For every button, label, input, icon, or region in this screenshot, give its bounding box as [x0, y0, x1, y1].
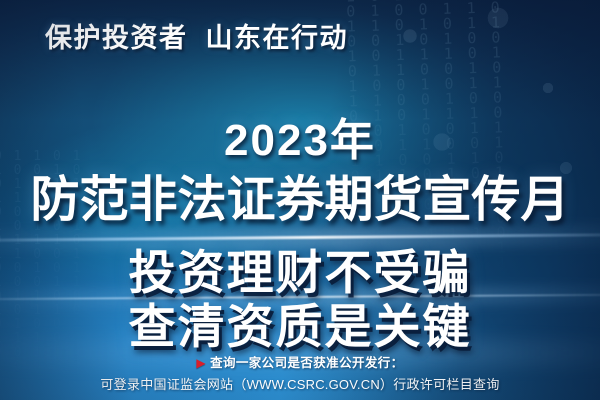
csrc-website-url[interactable]: WWW.CSRC.GOV.CN [247, 377, 380, 392]
footer-block: ▶查询一家公司是否获准公开发行： 可登录中国证监会网站（WWW.CSRC.GOV… [0, 354, 600, 394]
investor-protection-poster: 1 0 1 1 0 0 1 0 1 0 0 1 1 0 1 1 0 1 0 1 … [0, 0, 600, 400]
footer-query-text: 查询一家公司是否获准公开发行： [210, 356, 404, 370]
footer-website-suffix: ）行政许可栏目查询 [380, 377, 500, 392]
campaign-year: 2023年 [0, 104, 600, 168]
footer-query-line: ▶查询一家公司是否获准公开发行： [0, 354, 600, 372]
footer-website-prefix: 可登录中国证监会网站（ [100, 377, 246, 392]
triangle-marker-icon: ▶ [196, 356, 206, 370]
footer-website-line: 可登录中国证监会网站（WWW.CSRC.GOV.CN）行政许可栏目查询 [0, 375, 600, 394]
header-slogan: 保护投资者 山东在行动 [45, 16, 348, 55]
campaign-title: 防范非法证券期货宣传月 [0, 160, 600, 231]
slogan-line-2: 查清资质是关键 [0, 288, 600, 357]
